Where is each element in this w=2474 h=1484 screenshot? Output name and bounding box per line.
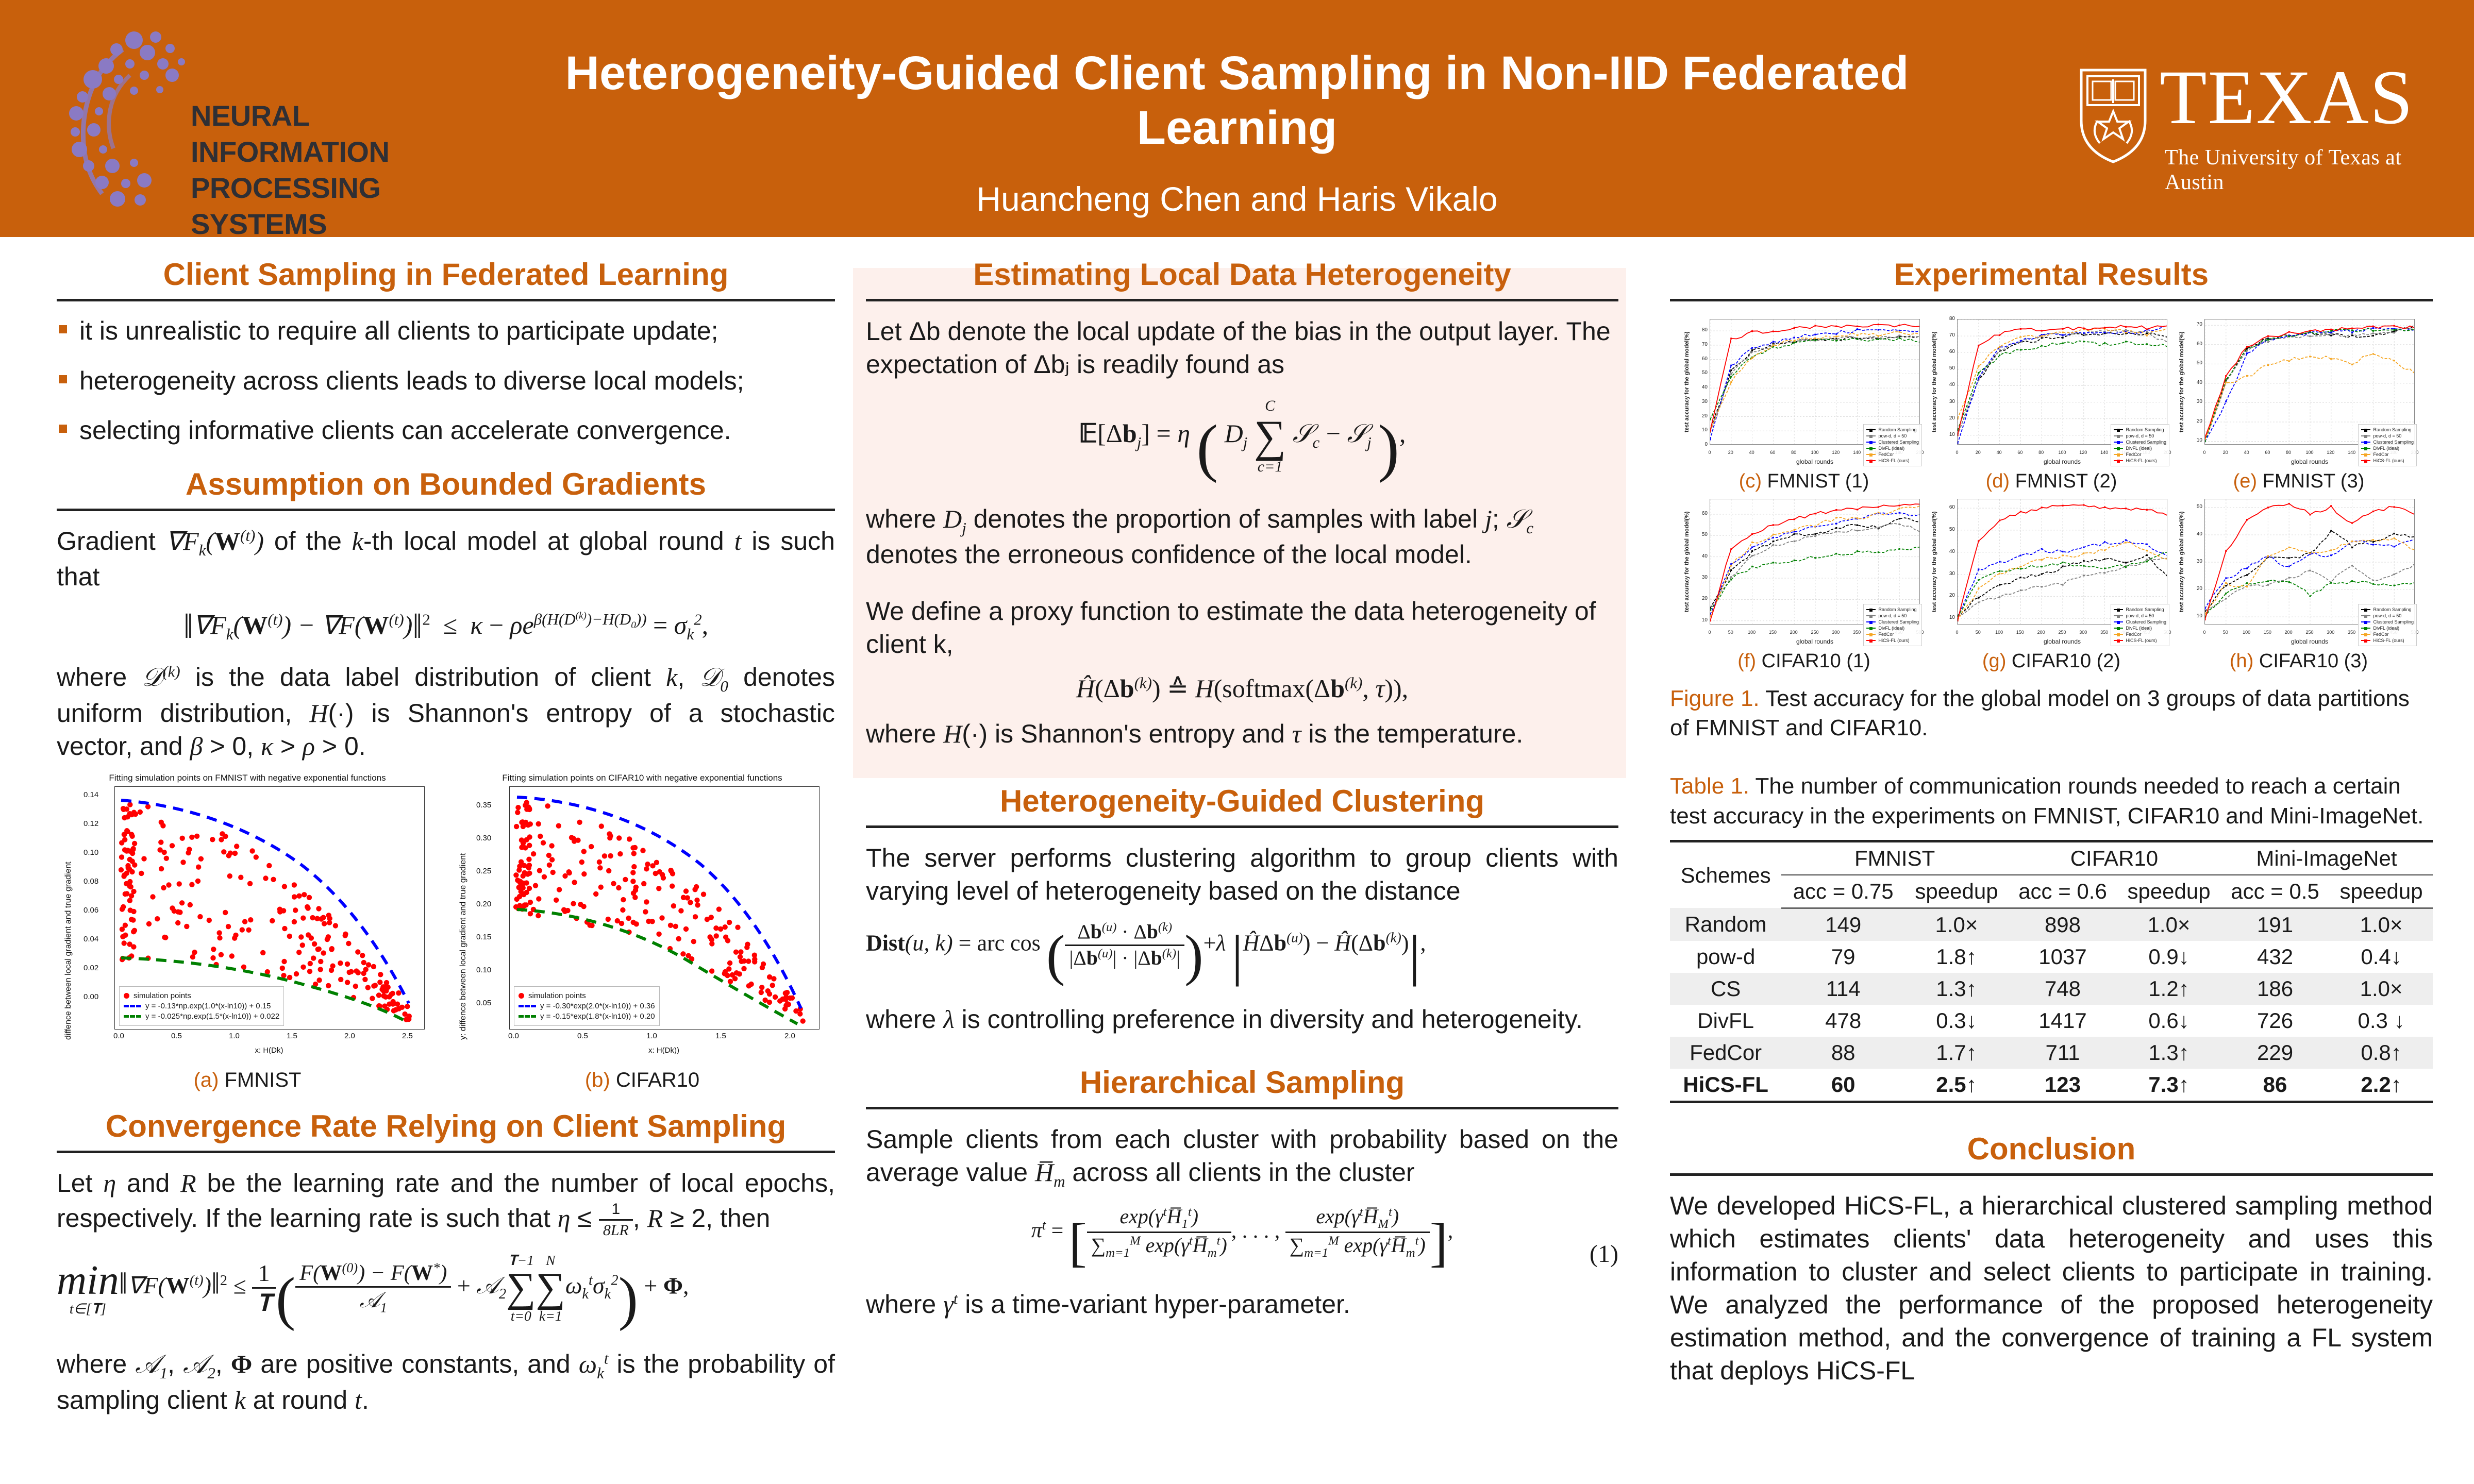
legend-item: DivFL (ideal) [1866,626,1919,631]
y-tick: 80 [1692,327,1708,333]
y-tick: 50 [1940,527,1955,532]
x-tick: 50 [1724,630,1737,635]
x-tick: 1.5 [287,1032,297,1040]
legend-item: y = -0.13*np.exp(1.0*(x-ln10)) + 0.15 [124,1002,279,1010]
legend-label: FedCor [1878,632,1894,637]
y-tick: 40 [1692,384,1708,390]
y-tick: 0.02 [83,964,98,972]
legend-marker-icon [2114,621,2123,622]
section-hierarchical-sampling-title: Hierarchical Sampling [866,1066,1618,1107]
legend-item: FedCor [1866,452,1919,457]
y-tick: 0.05 [476,999,491,1007]
x-tick: 120 [2324,450,2337,455]
equation-distance: Dist(u, k) = arc cos (Δb(u) · Δb(k)|Δb(u… [866,920,1618,989]
legend-marker-icon [2361,460,2370,461]
x-tick: 0.5 [577,1032,588,1040]
chart-legend: Random Samplingpow-d, d = 50Clustered Sa… [2111,604,2169,646]
x-tick: 40 [2240,450,2253,455]
x-tick: 0.0 [113,1032,124,1040]
x-tick: 250 [2055,630,2069,635]
x-tick: 100 [2055,450,2069,455]
legend-item: HiCS-FL (ours) [1866,458,1919,463]
right-column: Experimental Results test accuracy for t… [1670,258,2433,1396]
legend-marker-icon [2114,429,2123,430]
table-cell: 478 [1781,1005,1905,1037]
legend-label: Clustered Sampling [1878,440,1919,445]
y-tick: 0.06 [83,906,98,915]
legend-marker-icon [1866,448,1876,449]
legend-marker-icon [2361,448,2370,449]
legend-item: y = -0.025*np.exp(1.5*(x-ln10)) + 0.022 [124,1012,279,1021]
text-fragment: where [866,719,943,748]
legend-label: HiCS-FL (ours) [2373,458,2404,463]
legend-label: Random Sampling [2126,607,2164,612]
figure-cell: test accuracy for the global model(%)102… [1930,315,2172,493]
legend-marker-icon [2361,640,2370,641]
legend-label: Random Sampling [2373,607,2411,612]
legend-label: pow-d, d = 50 [1878,613,1907,618]
table-cell: 711 [2008,1037,2117,1069]
y-tick: 30 [2187,559,2202,564]
figure-cell: test accuracy for the global model(%)102… [1683,495,1925,672]
y-tick: 70 [2187,322,2202,327]
x-tick: 2.0 [784,1032,795,1040]
table-cell: 1037 [2008,941,2117,973]
legend-label: DivFL (ideal) [2373,626,2399,631]
table-cell-scheme: DivFL [1670,1005,1781,1037]
ut-austin-logo: TEXAS The University of Texas at Austin [2077,67,2428,175]
list-item: it is unrealistic to require all clients… [57,315,835,347]
list-item: heterogeneity across clients leads to di… [57,365,835,397]
legend-marker-icon [2114,442,2123,443]
x-axis-label: x: H(Dk)) [509,1046,818,1055]
table-1-caption: Table 1. The number of communication rou… [1670,771,2433,830]
table-cell: 1.3↑ [1905,973,2008,1005]
y-tick: 0.12 [83,819,98,828]
y-tick: 20 [2187,586,2202,592]
table-cell: 114 [1781,973,1905,1005]
legend-marker-icon [2114,628,2123,629]
figure-1-caption: Figure 1. Test accuracy for the global m… [1670,684,2433,743]
legend-item: HiCS-FL (ours) [2114,458,2166,463]
middle-column: Estimating Local Data Heterogeneity Let … [866,258,1618,1330]
divider [1670,299,2433,301]
legend-label: HiCS-FL (ours) [2126,458,2157,463]
y-tick: 40 [2187,531,2202,537]
chart-legend: Random Samplingpow-d, d = 50Clustered Sa… [2358,424,2417,466]
plot-area: simulation points y = -0.13*np.exp(1.0*(… [114,786,425,1030]
text-fragment: Gradient [57,527,166,555]
sampling-where: where γt is a time-variant hyper-paramet… [866,1288,1618,1321]
y-tick: 60 [1692,356,1708,362]
x-tick: 0 [2198,630,2211,635]
text-fragment: is Shannon's entropy and [988,719,1292,748]
chart-legend: simulation points y = -0.30*exp(2.0*(x-l… [514,986,660,1026]
table-row: DivFL4780.3↓14170.6↓7260.3 ↓ [1670,1005,2433,1037]
text-fragment: of the [264,527,352,555]
x-tick: 100 [2303,450,2316,455]
legend-item: Random Sampling [2114,427,2166,432]
x-tick: 0 [1703,450,1716,455]
text-fragment: where [57,1350,135,1378]
accuracy-plot-fmnist-2: test accuracy for the global model(%)102… [1930,315,2172,469]
x-tick: 0.5 [171,1032,182,1040]
legend-marker-icon [2114,640,2123,641]
x-tick: 0 [1950,450,1964,455]
table-cell-scheme: pow-d [1670,941,1781,973]
legend-item: FedCor [1866,632,1919,637]
legend-label: DivFL (ideal) [1878,626,1904,631]
legend-item: Clustered Sampling [1866,619,1919,625]
y-tick: 20 [2187,418,2202,424]
conclusion-paragraph: We developed HiCS-FL, a hierarchical clu… [1670,1189,2433,1387]
y-tick: 60 [1940,504,1955,510]
table-cell: 1.0× [1905,908,2008,941]
text-fragment: -th local model at global round [363,527,734,555]
text-fragment: denotes the proportion of samples with l… [966,504,1485,533]
table-row: pow-d791.8↑10370.9↓4320.4↓ [1670,941,2433,973]
chart-legend: Random Samplingpow-d, d = 50Clustered Sa… [1863,424,1922,466]
equation-expected-bias-update: 𝔼[Δbj] = η ( Dj C∑c=1 𝒮c − 𝒮j ), [866,398,1618,487]
legend-marker-icon [2361,442,2370,443]
list-item: selecting informative clients can accele… [57,414,835,447]
y-tick: 20 [1692,413,1708,419]
legend-marker-icon [1866,634,1876,635]
accuracy-plot-fmnist-3: test accuracy for the global model(%)102… [2178,315,2420,469]
table-subheader: speedup [1905,875,2008,908]
y-tick: 30 [1692,575,1708,580]
y-tick: 0.35 [476,801,491,810]
section-clustering-title: Heterogeneity-Guided Clustering [866,784,1618,825]
equation-number: (1) [1590,1239,1618,1269]
legend-marker-icon [1866,609,1876,610]
x-tick: 100 [2240,630,2253,635]
x-tick: 60 [2261,450,2274,455]
divider [866,299,1618,301]
figure-row-cifar10: test accuracy for the global model(%)102… [1670,495,2433,672]
title-block: Heterogeneity-Guided Client Sampling in … [541,31,1933,292]
legend-marker-icon [2361,435,2370,436]
legend-label: Clustered Sampling [2126,440,2166,445]
table-cell: 123 [2008,1069,2117,1102]
clustering-where: where λ is controlling preference in div… [866,1003,1618,1036]
table-cell: 191 [2220,908,2330,941]
legend-label: Random Sampling [1878,607,1916,612]
table-cell: 0.6↓ [2117,1005,2220,1037]
y-tick: 0.25 [476,867,491,875]
legend-label: DivFL (ideal) [1878,446,1904,451]
table-row: FedCor881.7↑7111.3↑2290.8↑ [1670,1037,2433,1069]
legend-marker-icon [1866,429,1876,430]
fitting-charts: Fitting simulation points on FMNIST with… [57,772,835,1092]
text-fragment: . [362,1386,369,1414]
legend-item: FedCor [2114,452,2166,457]
table-corner-header: Schemes [1670,841,1781,908]
y-tick: 60 [1940,349,1955,355]
y-tick: 50 [1692,370,1708,376]
table-cell: 1.0× [2330,908,2433,941]
legend-label: FedCor [2373,632,2388,637]
divider [866,1107,1618,1109]
table-cell: 1.7↑ [1905,1037,2008,1069]
y-tick: 50 [2187,504,2202,510]
x-tick: 1.0 [229,1032,240,1040]
legend-marker-icon [1866,442,1876,443]
x-tick: 300 [2077,630,2090,635]
x-tick: 150 [2013,630,2027,635]
text-fragment: is the data label distribution of client [180,663,666,692]
legend-label: DivFL (ideal) [2126,446,2152,451]
results-figure-grid: test accuracy for the global model(%)010… [1670,315,2433,672]
legend-marker-dash-icon [124,1005,141,1007]
table-cell: 748 [2008,973,2117,1005]
legend-marker-dot-icon [519,993,524,999]
text-fragment: where [866,504,943,533]
legend-item: Clustered Sampling [2114,619,2166,625]
y-tick: 30 [2187,399,2202,404]
clustering-paragraph: The server performs clustering algorithm… [866,841,1618,907]
y-tick: 60 [1692,511,1708,516]
x-tick: 140 [1850,450,1864,455]
text-fragment: and [116,1169,180,1198]
legend-label: pow-d, d = 50 [2373,613,2401,618]
y-tick: 0.30 [476,834,491,842]
table-cell: 1.0× [2117,908,2220,941]
x-tick: 250 [1808,630,1821,635]
legend-label: Clustered Sampling [1878,619,1919,625]
legend-marker-icon [2114,615,2123,616]
legend-item: pow-d, d = 50 [2114,613,2166,618]
divider [1670,1173,2433,1176]
text-fragment: are positive constants, and [252,1350,578,1378]
figure-cell: test accuracy for the global model(%)010… [1683,315,1925,493]
text-fragment: ; [1492,504,1507,533]
table-cell-scheme: Random [1670,908,1781,941]
table-cell: 2.2↑ [2330,1069,2433,1102]
legend-marker-icon [2361,454,2370,455]
text-fragment: is a time-variant hyper-parameter. [958,1290,1350,1319]
legend-item: Clustered Sampling [2114,440,2166,445]
page-title: Heterogeneity-Guided Client Sampling in … [541,46,1933,156]
figure-cell: test accuracy for the global model(%)102… [2178,315,2420,493]
chart-legend: simulation points y = -0.13*np.exp(1.0*(… [119,986,284,1026]
x-tick: 50 [1971,630,1985,635]
cifar10-fit-plot: Fitting simulation points on CIFAR10 wit… [452,772,833,1066]
x-tick: 80 [2282,450,2295,455]
table-cell: 1.2↑ [2117,973,2220,1005]
legend-item: Clustered Sampling [2361,440,2414,445]
legend-item: pow-d, d = 50 [1866,613,1919,618]
table-group-header: CIFAR10 [2008,841,2220,875]
section-estimating-heterogeneity-title: Estimating Local Data Heterogeneity [866,258,1618,299]
legend-item: pow-d, d = 50 [1866,433,1919,439]
legend-marker-icon [2114,609,2123,610]
x-tick: 0 [1950,630,1964,635]
legend-label: DivFL (ideal) [2373,446,2399,451]
text-fragment: where [57,663,142,692]
table-cell: 2.5↑ [1905,1069,2008,1102]
legend-label: Random Sampling [2373,427,2411,432]
table-subheader: acc = 0.6 [2008,875,2117,908]
y-tick: 10 [1940,615,1955,620]
x-tick: 300 [1829,630,1843,635]
legend-label: Random Sampling [2126,427,2164,432]
legend-item: HiCS-FL (ours) [2361,458,2414,463]
neurips-logo: NEURAL INFORMATION PROCESSING SYSTEMS [62,26,454,211]
legend-label: FedCor [2126,452,2141,457]
equation-convergence: mint∈[𝐓]‖∇F(W(t))‖2 ≤ 1𝐓(F(W(0)) − F(W*)… [57,1253,835,1335]
text-fragment: denotes the erroneous confidence of the … [866,540,1472,569]
text-fragment: Let [57,1169,103,1198]
y-axis-label: test accuracy for the global model(%) [2179,319,2185,445]
legend-label: HiCS-FL (ours) [1878,638,1909,643]
legend-item: Random Sampling [2361,607,2414,612]
sampling-paragraph: Sample clients from each cluster with pr… [866,1123,1618,1192]
table-subheader: speedup [2330,875,2433,908]
legend-item: DivFL (ideal) [2114,446,2166,451]
legend-marker-icon [2361,621,2370,622]
y-axis-label: test accuracy for the global model(%) [1931,499,1937,625]
legend-marker-icon [2361,615,2370,616]
x-tick: 20 [2219,450,2232,455]
client-sampling-bullets: it is unrealistic to require all clients… [57,315,835,447]
bounded-gradients-paragraph: Gradient ∇Fk(W(t)) of the k-th local mod… [57,525,835,594]
y-tick: 10 [2187,437,2202,443]
figure-cell: test accuracy for the global model(%)102… [1930,495,2172,672]
x-tick: 20 [1724,450,1737,455]
legend-label: DivFL (ideal) [2126,626,2152,631]
text-fragment: at round [246,1386,355,1414]
table-cell: 726 [2220,1005,2330,1037]
x-tick: 350 [1850,630,1864,635]
y-tick: 80 [1940,316,1955,322]
legend-item: pow-d, d = 50 [2361,613,2414,618]
accuracy-plot-fmnist-1: test accuracy for the global model(%)010… [1683,315,1925,469]
y-tick: 10 [1692,427,1708,433]
x-tick: 80 [2034,450,2048,455]
legend-marker-icon [1866,621,1876,622]
y-axis-label: test accuracy for the global model(%) [1684,319,1690,445]
table-group-header: FMNIST [1781,841,2008,875]
estimating-paragraph-1: Let Δb denote the local update of the bi… [866,315,1618,381]
y-tick: 30 [1940,571,1955,577]
authors: Huancheng Chen and Haris Vikalo [541,179,1933,218]
x-tick: 60 [1766,450,1779,455]
x-tick: 140 [2098,450,2111,455]
legend-item: HiCS-FL (ours) [2114,638,2166,643]
figure-row-fmnist: test accuracy for the global model(%)010… [1670,315,2433,493]
accuracy-plot-cifar10-3: test accuracy for the global model(%)102… [2178,495,2420,649]
legend-marker-icon [2114,634,2123,635]
y-tick: 0.14 [83,790,98,799]
figure-subcaption: (h) CIFAR10 (3) [2178,650,2420,672]
legend-marker-icon [2114,448,2123,449]
y-tick: 30 [1692,399,1708,404]
legend-label: Random Sampling [1878,427,1916,432]
equation-bounded-gradient: ‖∇Fk(W(t)) − ∇F(W(t))‖2 ≤ κ − ρeβ(H(D(k)… [57,605,835,647]
legend-label: HiCS-FL (ours) [2126,638,2157,643]
legend-marker-icon [2361,609,2370,610]
y-axis-label: y: diffence between local gradient and t… [459,853,468,1040]
table-cell-scheme: FedCor [1670,1037,1781,1069]
legend-item: pow-d, d = 50 [2361,433,2414,439]
legend-item: HiCS-FL (ours) [2361,638,2414,643]
divider [57,299,835,301]
y-tick: 0.10 [83,848,98,857]
x-tick: 120 [2077,450,2090,455]
legend-label: FedCor [1878,452,1894,457]
legend-item: DivFL (ideal) [1866,446,1919,451]
text-fragment: , [677,663,699,692]
ut-shield-icon [2077,67,2149,165]
subcaption-cifar10: (b) CIFAR10 [452,1069,833,1092]
figure-subcaption: (g) CIFAR10 (2) [1930,650,2172,672]
y-axis-label: test accuracy for the global model(%) [2179,499,2185,625]
table-group-header: Mini-ImageNet [2220,841,2433,875]
results-table: Schemes FMNIST CIFAR10 Mini-ImageNet acc… [1670,840,2433,1103]
legend-marker-icon [1866,435,1876,436]
legend-marker-icon [1866,615,1876,616]
table-cell: 186 [2220,973,2330,1005]
table-cell: 0.3 ↓ [2330,1005,2433,1037]
table-row: CS1141.3↑7481.2↑1861.0× [1670,973,2433,1005]
legend-label: pow-d, d = 50 [2373,433,2401,439]
table-cell: 1417 [2008,1005,2117,1037]
x-tick: 150 [2261,630,2274,635]
text-fragment: across all clients in the cluster [1065,1158,1415,1187]
section-experimental-results-title: Experimental Results [1670,258,2433,299]
legend-marker-icon [1866,628,1876,629]
y-tick: 0.08 [83,877,98,886]
text-fragment: where [866,1290,943,1319]
x-tick: 300 [2324,630,2337,635]
figure-cell: test accuracy for the global model(%)102… [2178,495,2420,672]
subcaption-fmnist: (a) FMNIST [57,1069,438,1092]
legend-item: FedCor [2361,452,2414,457]
plot-area: simulation points y = -0.30*exp(2.0*(x-l… [509,786,820,1030]
accuracy-plot-cifar10-1: test accuracy for the global model(%)102… [1683,495,1925,649]
x-tick: 200 [1787,630,1800,635]
table-row: HiCS-FL602.5↑1237.3↑862.2↑ [1670,1069,2433,1102]
convergence-where: where 𝒜1, 𝒜2, Φ are positive constants, … [57,1347,835,1416]
y-tick: 0.10 [476,966,491,974]
y-tick: 0.15 [476,933,491,941]
left-column: Client Sampling in Federated Learning it… [57,258,835,1426]
x-tick: 2.0 [344,1032,355,1040]
section-bounded-gradients-title: Assumption on Bounded Gradients [57,467,835,509]
x-tick: 40 [1745,450,1759,455]
y-tick: 70 [1940,332,1955,338]
ut-subtitle: The University of Texas at Austin [2165,145,2428,195]
y-tick: 0.20 [476,900,491,908]
legend-item: Random Sampling [1866,607,1919,612]
chart-legend: Random Samplingpow-d, d = 50Clustered Sa… [2358,604,2417,646]
text-fragment: is the temperature. [1301,719,1524,748]
legend-marker-dash-icon [519,1015,536,1018]
x-tick: 200 [2034,630,2048,635]
y-tick: 0 [1692,442,1708,447]
legend-item: Random Sampling [1866,427,1919,432]
convergence-paragraph: Let η and R be the learning rate and the… [57,1167,835,1241]
section-convergence-title: Convergence Rate Relying on Client Sampl… [57,1109,835,1151]
legend-label: Clustered Sampling [2126,619,2166,625]
legend-marker-icon [2361,634,2370,635]
x-tick: 0 [2198,450,2211,455]
text-fragment: is controlling preference in diversity a… [955,1005,1583,1034]
x-tick: 100 [1808,450,1821,455]
x-tick: 2.5 [402,1032,413,1040]
y-tick: 0.00 [83,992,98,1001]
